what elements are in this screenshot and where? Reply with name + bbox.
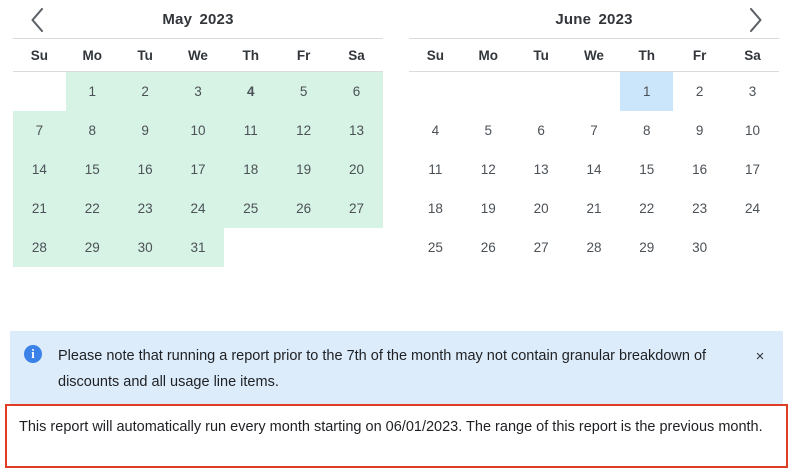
calendar-day-in-range[interactable]: 23 [119, 189, 172, 228]
calendar-day-in-range[interactable]: 2 [119, 72, 172, 111]
calendar-week-row: 11121314151617 [409, 150, 779, 189]
calendar-week-row: 28293031 [13, 228, 383, 267]
chevron-right-icon[interactable] [739, 4, 771, 36]
calendar-day-in-range[interactable]: 9 [119, 111, 172, 150]
calendar-week-row: 123 [409, 72, 779, 112]
calendar-week-row: 18192021222324 [409, 189, 779, 228]
calendar-header-right: June 2023 [409, 0, 779, 38]
calendar-panel-right: June 2023 Su Mo Tu We Th Fr [396, 0, 792, 318]
weekday-tu: Tu [119, 39, 172, 72]
calendar-day-in-range[interactable]: 12 [277, 111, 330, 150]
calendar-day-in-range[interactable]: 8 [66, 111, 119, 150]
calendar-day-empty [409, 72, 462, 112]
calendar-day-empty [13, 72, 66, 111]
calendar-day[interactable]: 26 [462, 228, 515, 267]
calendar-day[interactable]: 22 [620, 189, 673, 228]
calendar-day-in-range[interactable]: 7 [13, 111, 66, 150]
weekday-sa: Sa [726, 39, 779, 72]
weekday-fr: Fr [673, 39, 726, 72]
calendar-day[interactable]: 12 [462, 150, 515, 189]
calendar-day[interactable]: 6 [515, 111, 568, 150]
calendar-week-row: 14151617181920 [13, 150, 383, 189]
weekday-tu: Tu [515, 39, 568, 72]
calendar-day[interactable]: 10 [726, 111, 779, 150]
calendar-day-in-range[interactable]: 5 [277, 72, 330, 111]
calendar-day[interactable]: 25 [409, 228, 462, 267]
info-circle-icon: i [24, 345, 42, 363]
weekday-sa: Sa [330, 39, 383, 72]
calendar-day-empty [515, 72, 568, 112]
calendar-day-in-range[interactable]: 18 [224, 150, 277, 189]
calendar-header-left: May 2023 [13, 0, 383, 38]
calendar-area: May 2023 Su Mo Tu We Th Fr Sa 1234567891… [0, 0, 793, 318]
calendar-day[interactable]: 21 [568, 189, 621, 228]
info-banner-message: Please note that running a report prior … [58, 343, 733, 395]
calendar-day[interactable]: 15 [620, 150, 673, 189]
calendar-day[interactable]: 5 [462, 111, 515, 150]
calendar-day-empty [726, 228, 779, 267]
weekday-su: Su [409, 39, 462, 72]
weekday-mo: Mo [462, 39, 515, 72]
calendar-day-in-range[interactable]: 27 [330, 189, 383, 228]
chevron-left-icon[interactable] [21, 4, 53, 36]
calendar-day-selected[interactable]: 1 [620, 72, 673, 112]
calendar-day-in-range[interactable]: 19 [277, 150, 330, 189]
calendar-day-in-range[interactable]: 20 [330, 150, 383, 189]
calendar-panel-left: May 2023 Su Mo Tu We Th Fr Sa 1234567891… [0, 0, 396, 318]
calendar-week-row: 78910111213 [13, 111, 383, 150]
calendar-week-row: 45678910 [409, 111, 779, 150]
calendar-day[interactable]: 13 [515, 150, 568, 189]
calendar-week-row: 21222324252627 [13, 189, 383, 228]
calendar-day-in-range[interactable]: 29 [66, 228, 119, 267]
calendar-day-in-range[interactable]: 6 [330, 72, 383, 111]
calendar-day[interactable]: 7 [568, 111, 621, 150]
calendar-table-right: Su Mo Tu We Th Fr Sa 1234567891011121314… [409, 38, 779, 267]
calendar-body-left: 1234567891011121314151617181920212223242… [13, 72, 383, 267]
calendar-day[interactable]: 27 [515, 228, 568, 267]
weekday-th: Th [224, 39, 277, 72]
calendar-day-in-range[interactable]: 26 [277, 189, 330, 228]
calendar-day-empty [330, 228, 383, 267]
weekday-th: Th [620, 39, 673, 72]
calendar-day-empty [568, 72, 621, 112]
calendar-day-in-range[interactable]: 10 [172, 111, 225, 150]
calendar-day-in-range[interactable]: 13 [330, 111, 383, 150]
calendar-day-in-range[interactable]: 28 [13, 228, 66, 267]
calendar-day-in-range[interactable]: 25 [224, 189, 277, 228]
calendar-day-empty [277, 228, 330, 267]
calendar-day-empty [462, 72, 515, 112]
calendar-day-in-range[interactable]: 21 [13, 189, 66, 228]
calendar-day-in-range[interactable]: 24 [172, 189, 225, 228]
calendar-day-in-range[interactable]: 1 [66, 72, 119, 111]
calendar-day-in-range[interactable]: 3 [172, 72, 225, 111]
calendar-day[interactable]: 4 [409, 111, 462, 150]
calendar-day-in-range[interactable]: 16 [119, 150, 172, 189]
calendar-day[interactable]: 9 [673, 111, 726, 150]
date-range-picker-screen: May 2023 Su Mo Tu We Th Fr Sa 1234567891… [0, 0, 793, 472]
calendar-title-left: May 2023 [162, 11, 233, 28]
calendar-day[interactable]: 14 [568, 150, 621, 189]
close-icon[interactable]: × [751, 347, 769, 365]
info-banner: i Please note that running a report prio… [10, 331, 783, 407]
calendar-day[interactable]: 2 [673, 72, 726, 112]
weekday-header-row: Su Mo Tu We Th Fr Sa [13, 39, 383, 72]
calendar-day[interactable]: 20 [515, 189, 568, 228]
calendar-day[interactable]: 18 [409, 189, 462, 228]
calendar-day[interactable]: 11 [409, 150, 462, 189]
calendar-day[interactable]: 23 [673, 189, 726, 228]
calendar-body-right: 1234567891011121314151617181920212223242… [409, 72, 779, 268]
calendar-day-in-range[interactable]: 30 [119, 228, 172, 267]
calendar-day-in-range[interactable]: 17 [172, 150, 225, 189]
calendar-title-right: June 2023 [555, 11, 632, 28]
calendar-day-in-range[interactable]: 31 [172, 228, 225, 267]
calendar-week-row: 252627282930 [409, 228, 779, 267]
weekday-su: Su [13, 39, 66, 72]
calendar-day-in-range[interactable]: 11 [224, 111, 277, 150]
calendar-day-in-range[interactable]: 15 [66, 150, 119, 189]
calendar-day-empty [224, 228, 277, 267]
calendar-week-row: 123456 [13, 72, 383, 111]
calendar-day[interactable]: 28 [568, 228, 621, 267]
calendar-day[interactable]: 3 [726, 72, 779, 112]
weekday-header-row: Su Mo Tu We Th Fr Sa [409, 39, 779, 72]
calendar-day[interactable]: 29 [620, 228, 673, 267]
calendar-table-left: Su Mo Tu We Th Fr Sa 1234567891011121314… [13, 38, 383, 267]
calendar-day-label: 1 [620, 72, 673, 111]
calendar-day[interactable]: 24 [726, 189, 779, 228]
weekday-we: We [568, 39, 621, 72]
calendar-day[interactable]: 16 [673, 150, 726, 189]
calendar-day[interactable]: 30 [673, 228, 726, 267]
calendar-day-in-range[interactable]: 4 [224, 72, 277, 111]
calendar-day[interactable]: 8 [620, 111, 673, 150]
calendar-day-in-range[interactable]: 22 [66, 189, 119, 228]
weekday-fr: Fr [277, 39, 330, 72]
weekday-mo: Mo [66, 39, 119, 72]
calendar-day[interactable]: 17 [726, 150, 779, 189]
calendar-day-in-range[interactable]: 14 [13, 150, 66, 189]
schedule-note: This report will automatically run every… [5, 404, 788, 468]
calendar-day[interactable]: 19 [462, 189, 515, 228]
weekday-we: We [172, 39, 225, 72]
